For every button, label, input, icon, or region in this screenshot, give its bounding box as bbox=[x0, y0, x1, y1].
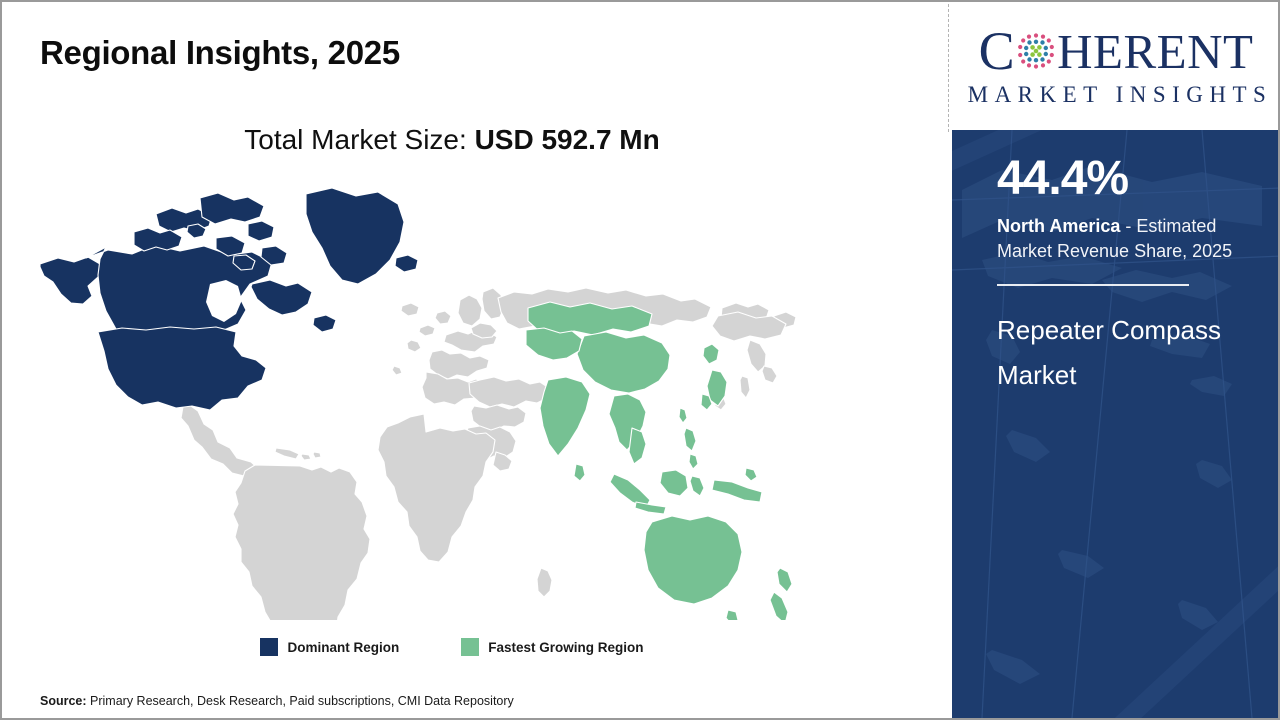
stat-region-name: North America bbox=[997, 216, 1120, 236]
stat-description: North America - Estimated Market Revenue… bbox=[997, 214, 1260, 264]
legend-item-fastest-growing: Fastest Growing Region bbox=[461, 638, 643, 656]
source-note: Source: Primary Research, Desk Research,… bbox=[40, 694, 514, 708]
total-market-size: Total Market Size: USD 592.7 Mn bbox=[2, 124, 902, 156]
left-content-panel: Regional Insights, 2025 Total Market Siz… bbox=[2, 2, 949, 718]
world-map-svg bbox=[28, 180, 838, 620]
source-text: Primary Research, Desk Research, Paid su… bbox=[87, 694, 514, 708]
logo-word-rest: HERENT bbox=[1057, 27, 1253, 76]
source-label: Source: bbox=[40, 694, 87, 708]
stat-divider-rule bbox=[997, 284, 1189, 286]
page-title: Regional Insights, 2025 bbox=[40, 34, 400, 72]
logo-tagline: MARKET INSIGHTS bbox=[968, 82, 1273, 108]
map-legend: Dominant Region Fastest Growing Region bbox=[2, 638, 902, 656]
market-size-value: USD 592.7 Mn bbox=[475, 124, 660, 155]
logo-wordmark: C bbox=[979, 24, 1254, 78]
square-swatch-icon bbox=[260, 638, 278, 656]
vertical-divider bbox=[948, 4, 949, 132]
stat-panel-content: 44.4% North America - Estimated Market R… bbox=[997, 154, 1260, 398]
great-lakes bbox=[241, 328, 260, 344]
dotted-globe-icon bbox=[1016, 31, 1056, 71]
world-map bbox=[28, 180, 838, 620]
legend-item-dominant: Dominant Region bbox=[260, 638, 399, 656]
stat-panel: 44.4% North America - Estimated Market R… bbox=[952, 130, 1280, 718]
logo-letter-c: C bbox=[979, 24, 1016, 78]
market-name: Repeater Compass Market bbox=[997, 308, 1260, 398]
legend-label-fastest-growing: Fastest Growing Region bbox=[488, 640, 643, 655]
legend-label-dominant: Dominant Region bbox=[287, 640, 399, 655]
stat-value: 44.4% bbox=[997, 154, 1260, 204]
slide-frame: Regional Insights, 2025 Total Market Siz… bbox=[0, 0, 1280, 720]
market-size-label: Total Market Size: bbox=[244, 124, 474, 155]
brand-logo: C bbox=[952, 2, 1280, 130]
square-swatch-icon bbox=[461, 638, 479, 656]
